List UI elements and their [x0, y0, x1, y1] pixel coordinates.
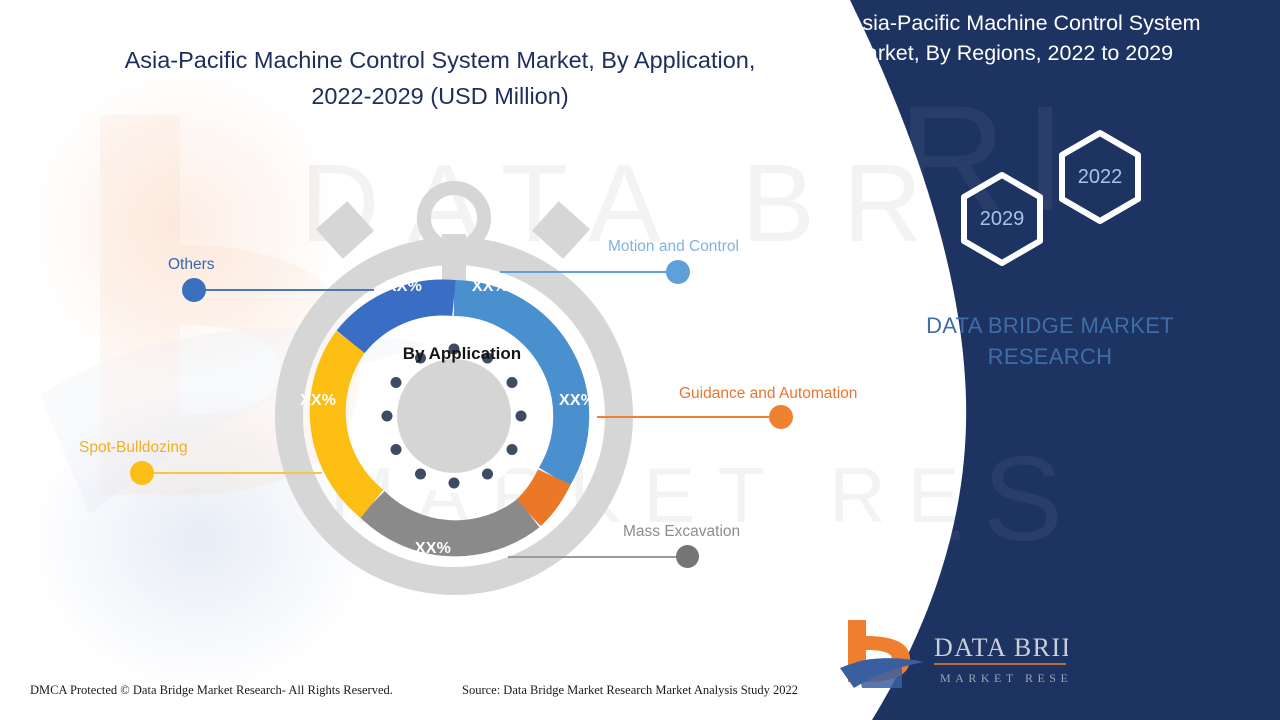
right-panel: BRI RES Asia-Pacific Machine Control Sys…	[820, 0, 1280, 720]
donut-center-disc	[397, 359, 511, 473]
segment-others	[351, 297, 454, 341]
callout-line-others	[196, 289, 374, 291]
hexagon-year-2022-label: 2022	[1071, 166, 1129, 189]
callout-label-motion-and-control: Motion and Control	[608, 238, 739, 256]
footer-copyright: DMCA Protected © Data Bridge Market Rese…	[30, 683, 393, 698]
callout-dot-mass-excavation	[676, 545, 699, 568]
callout-line-mass-excavation	[508, 556, 688, 558]
donut-center-label: By Application	[262, 344, 662, 364]
donut-chart-svg	[262, 148, 662, 598]
svg-text:RES: RES	[820, 432, 1081, 566]
callout-line-spot-bulldozing	[146, 472, 322, 474]
dbmr-logo-tagline: MARKET RESEARCH	[940, 671, 1068, 685]
callout-dot-motion-and-control	[666, 260, 690, 284]
segment-mass-excavation	[372, 504, 528, 539]
callout-dot-guidance-and-automation	[769, 405, 793, 429]
value-label-others: XX%	[374, 278, 434, 296]
callout-dot-others	[182, 278, 206, 302]
page-title-line2: 2022-2029 (USD Million)	[311, 83, 568, 109]
page-title: Asia-Pacific Machine Control System Mark…	[60, 42, 820, 114]
page-title-line1: Asia-Pacific Machine Control System Mark…	[125, 47, 756, 73]
value-label-mass-excavation: XX%	[398, 540, 468, 558]
callout-line-guidance-and-automation	[597, 416, 782, 418]
hexagon-outlines-icon	[940, 125, 1160, 285]
right-panel-title-line2: Market, By Regions, 2022 to 2029	[848, 41, 1173, 65]
brand-line-1: DATA BRIDGE MARKET	[926, 313, 1174, 338]
right-panel-brand: DATA BRIDGE MARKET RESEARCH	[860, 310, 1240, 372]
hexagon-year-2029-label: 2029	[973, 208, 1031, 231]
callout-dot-spot-bulldozing	[130, 461, 154, 485]
callout-line-motion-and-control	[500, 271, 672, 273]
value-label-spot-bulldozing: XX%	[300, 392, 334, 410]
year-hexagons: 2022 2029	[940, 125, 1160, 285]
infographic-canvas: DATA BRIDGE MARKET RESEARCH Asia-Pacific…	[0, 0, 1280, 720]
dbmr-logo: DATA BRIDGE MARKET RESEARCH	[838, 612, 1068, 692]
value-label-guidance-and-automation: XX%	[559, 392, 593, 410]
right-panel-title-line1: Asia-Pacific Machine Control System	[848, 11, 1200, 35]
value-label-motion-and-control: XX%	[460, 278, 520, 296]
donut-chart: By Application XX% XX% XX% XX% XX%	[262, 148, 662, 598]
right-panel-title: Asia-Pacific Machine Control System Mark…	[848, 8, 1258, 68]
callout-label-others: Others	[168, 256, 215, 274]
callout-label-spot-bulldozing: Spot-Bulldozing	[79, 439, 188, 457]
dbmr-logo-name: DATA BRIDGE	[934, 633, 1068, 662]
footer-source: Source: Data Bridge Market Research Mark…	[462, 683, 798, 698]
brand-line-2: RESEARCH	[988, 344, 1113, 369]
dbmr-logo-mark-icon	[840, 620, 924, 688]
callout-label-mass-excavation: Mass Excavation	[623, 523, 740, 541]
segment-guidance-and-automation	[528, 477, 554, 513]
segment-spot-bulldozing	[328, 342, 372, 504]
